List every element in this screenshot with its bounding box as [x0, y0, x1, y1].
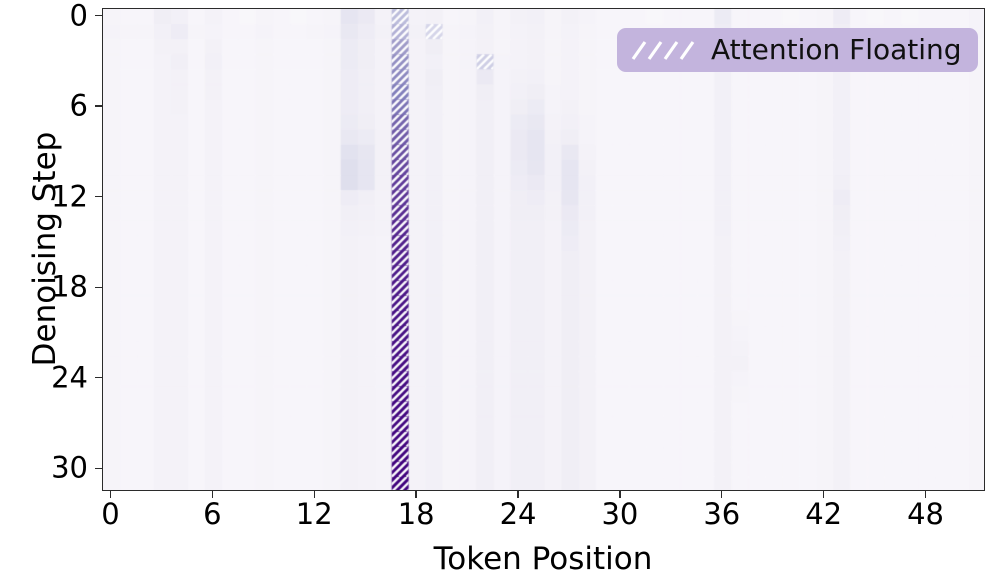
y-tick-mark: [95, 105, 102, 106]
x-tick-label: 0: [101, 500, 119, 529]
x-tick-label: 48: [907, 500, 944, 529]
y-tick-mark: [95, 468, 102, 469]
x-tick-label: 42: [805, 500, 842, 529]
heatmap-cells: [103, 9, 985, 491]
y-tick-label: 18: [0, 273, 88, 302]
x-tick-label: 36: [703, 500, 740, 529]
x-tick-label: 24: [500, 500, 537, 529]
y-tick-label: 24: [0, 363, 88, 392]
y-tick-mark: [95, 196, 102, 197]
legend-box: Attention Floating: [617, 28, 978, 72]
y-tick-mark: [95, 15, 102, 16]
heatmap-plot-area: [102, 8, 985, 491]
x-tick-label: 6: [203, 500, 221, 529]
y-tick-label: 0: [0, 1, 88, 30]
y-tick-label: 30: [0, 454, 88, 483]
y-tick-mark: [95, 287, 102, 288]
x-tick-label: 12: [296, 500, 333, 529]
hatch-swatch-icon: [631, 37, 697, 63]
y-tick-label: 12: [0, 182, 88, 211]
y-tick-mark: [95, 377, 102, 378]
heatmap-figure: Token Position Denoising Step Attention …: [0, 0, 997, 585]
y-tick-label: 6: [0, 92, 88, 121]
legend-label: Attention Floating: [711, 36, 962, 64]
x-tick-label: 18: [398, 500, 435, 529]
x-tick-label: 30: [601, 500, 638, 529]
x-axis-label: Token Position: [434, 541, 653, 577]
